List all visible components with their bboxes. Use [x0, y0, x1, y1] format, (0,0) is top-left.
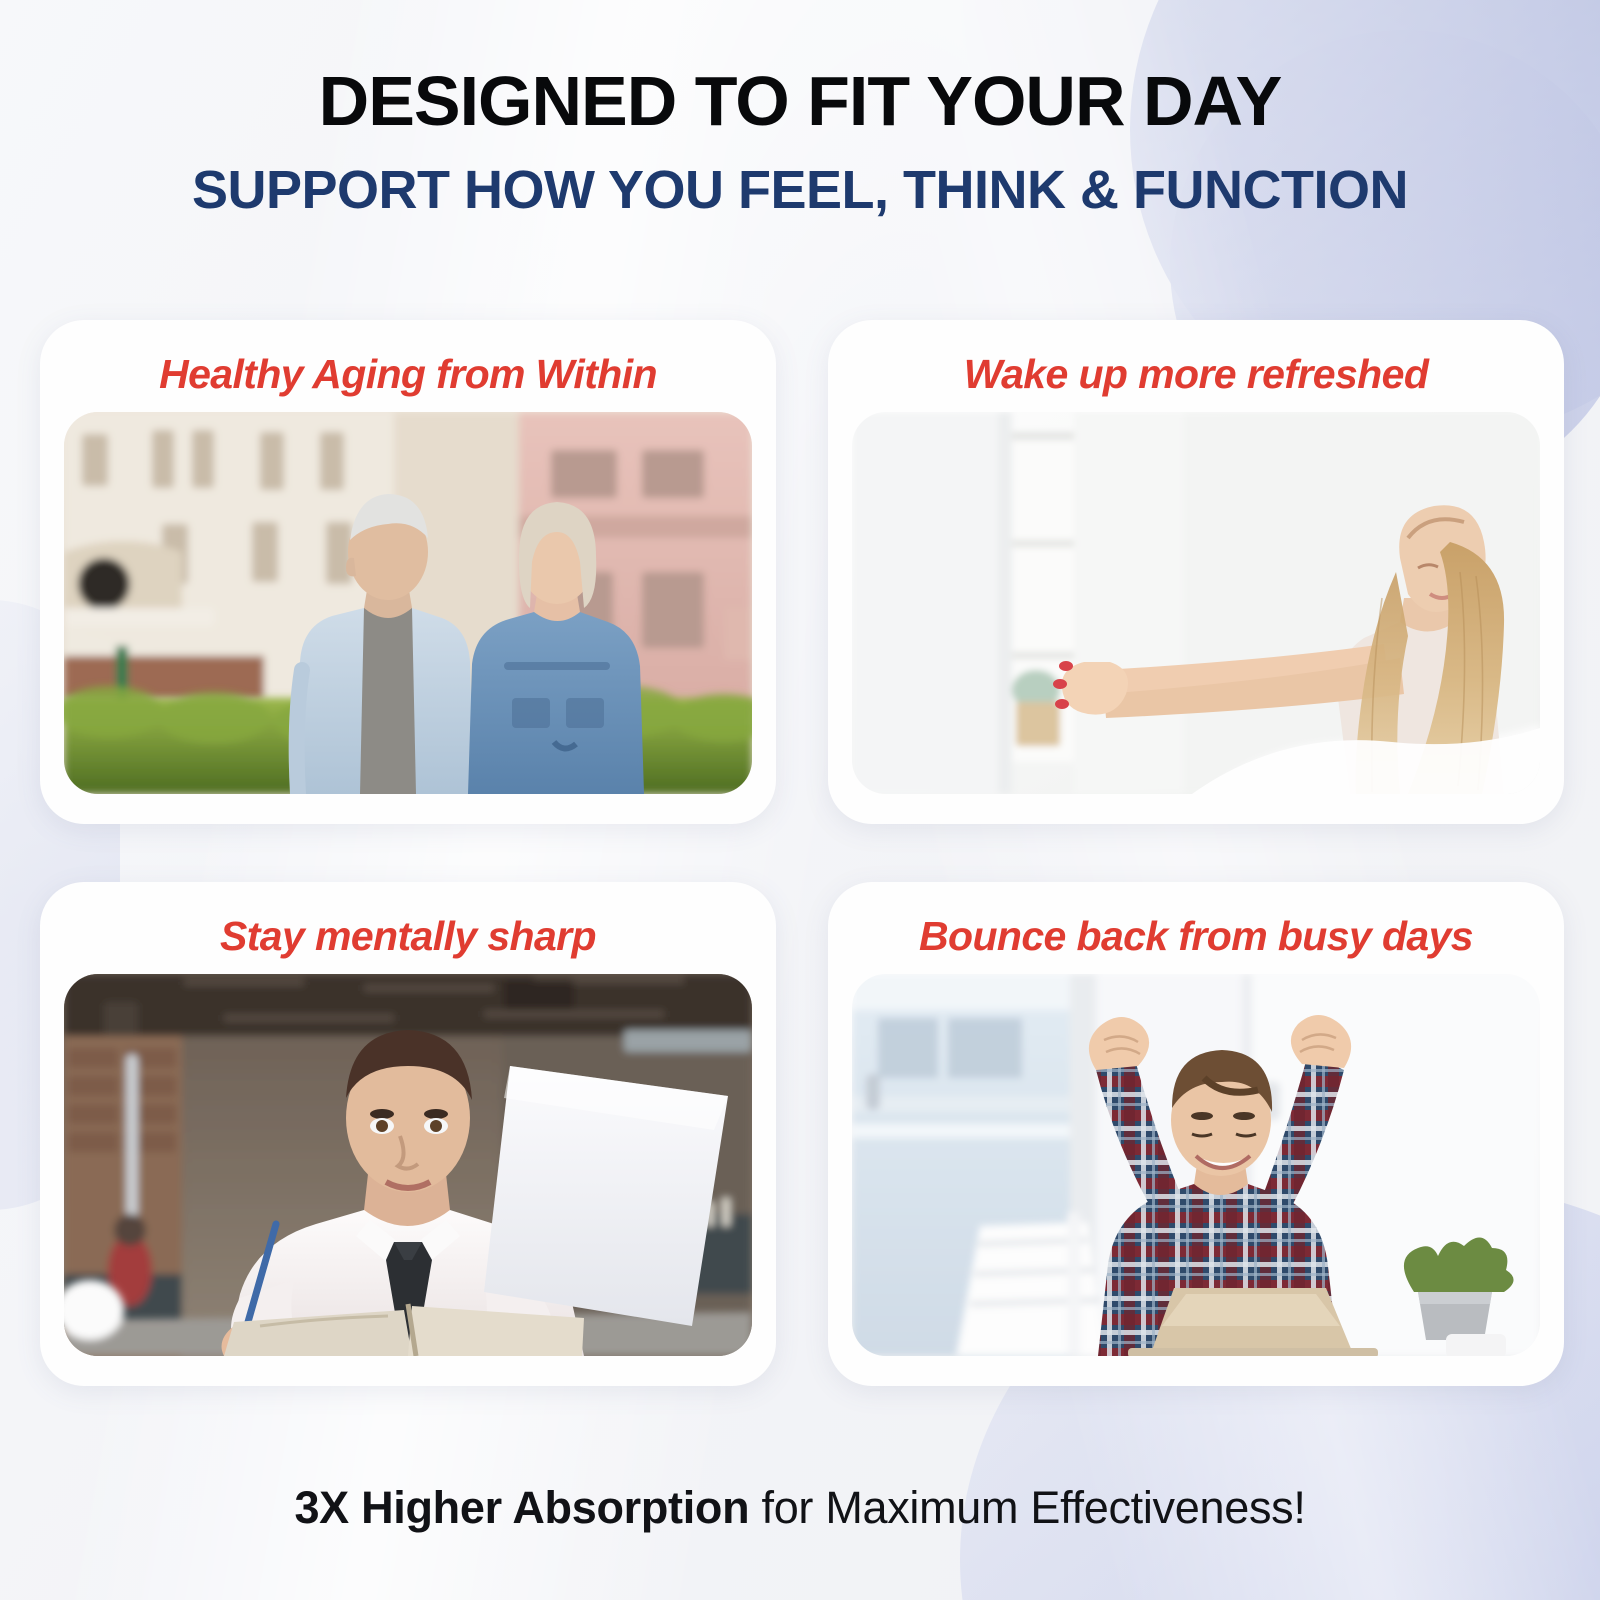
- page-subtitle: SUPPORT HOW YOU FEEL, THINK & FUNCTION: [0, 163, 1600, 218]
- benefit-card-bounce-back[interactable]: Bounce back from busy days: [828, 882, 1564, 1386]
- benefit-card-wake-refreshed[interactable]: Wake up more refreshed: [828, 320, 1564, 824]
- footer-claim-strong: 3X Higher Absorption: [294, 1482, 749, 1533]
- woman-stretching-in-bed-photo: [852, 412, 1540, 794]
- benefit-card-title: Wake up more refreshed: [964, 338, 1429, 412]
- woman-celebrating-at-laptop-photo: [852, 974, 1540, 1356]
- page-title: DESIGNED TO FIT YOUR DAY: [0, 66, 1600, 137]
- senior-couple-outdoors-photo: [64, 412, 752, 794]
- benefit-card-grid: Healthy Aging from Within: [40, 320, 1564, 1402]
- businessman-reading-document-photo: [64, 974, 752, 1356]
- header-block: DESIGNED TO FIT YOUR DAY SUPPORT HOW YOU…: [0, 66, 1600, 218]
- benefit-card-title: Healthy Aging from Within: [159, 338, 657, 412]
- benefit-card-healthy-aging[interactable]: Healthy Aging from Within: [40, 320, 776, 824]
- footer-claim: 3X Higher Absorption for Maximum Effecti…: [0, 1482, 1600, 1534]
- benefit-card-title: Bounce back from busy days: [919, 900, 1473, 974]
- benefit-card-mentally-sharp[interactable]: Stay mentally sharp: [40, 882, 776, 1386]
- footer-claim-light: for Maximum Effectiveness!: [749, 1482, 1305, 1533]
- promo-poster: DESIGNED TO FIT YOUR DAY SUPPORT HOW YOU…: [0, 0, 1600, 1600]
- benefit-card-title: Stay mentally sharp: [220, 900, 596, 974]
